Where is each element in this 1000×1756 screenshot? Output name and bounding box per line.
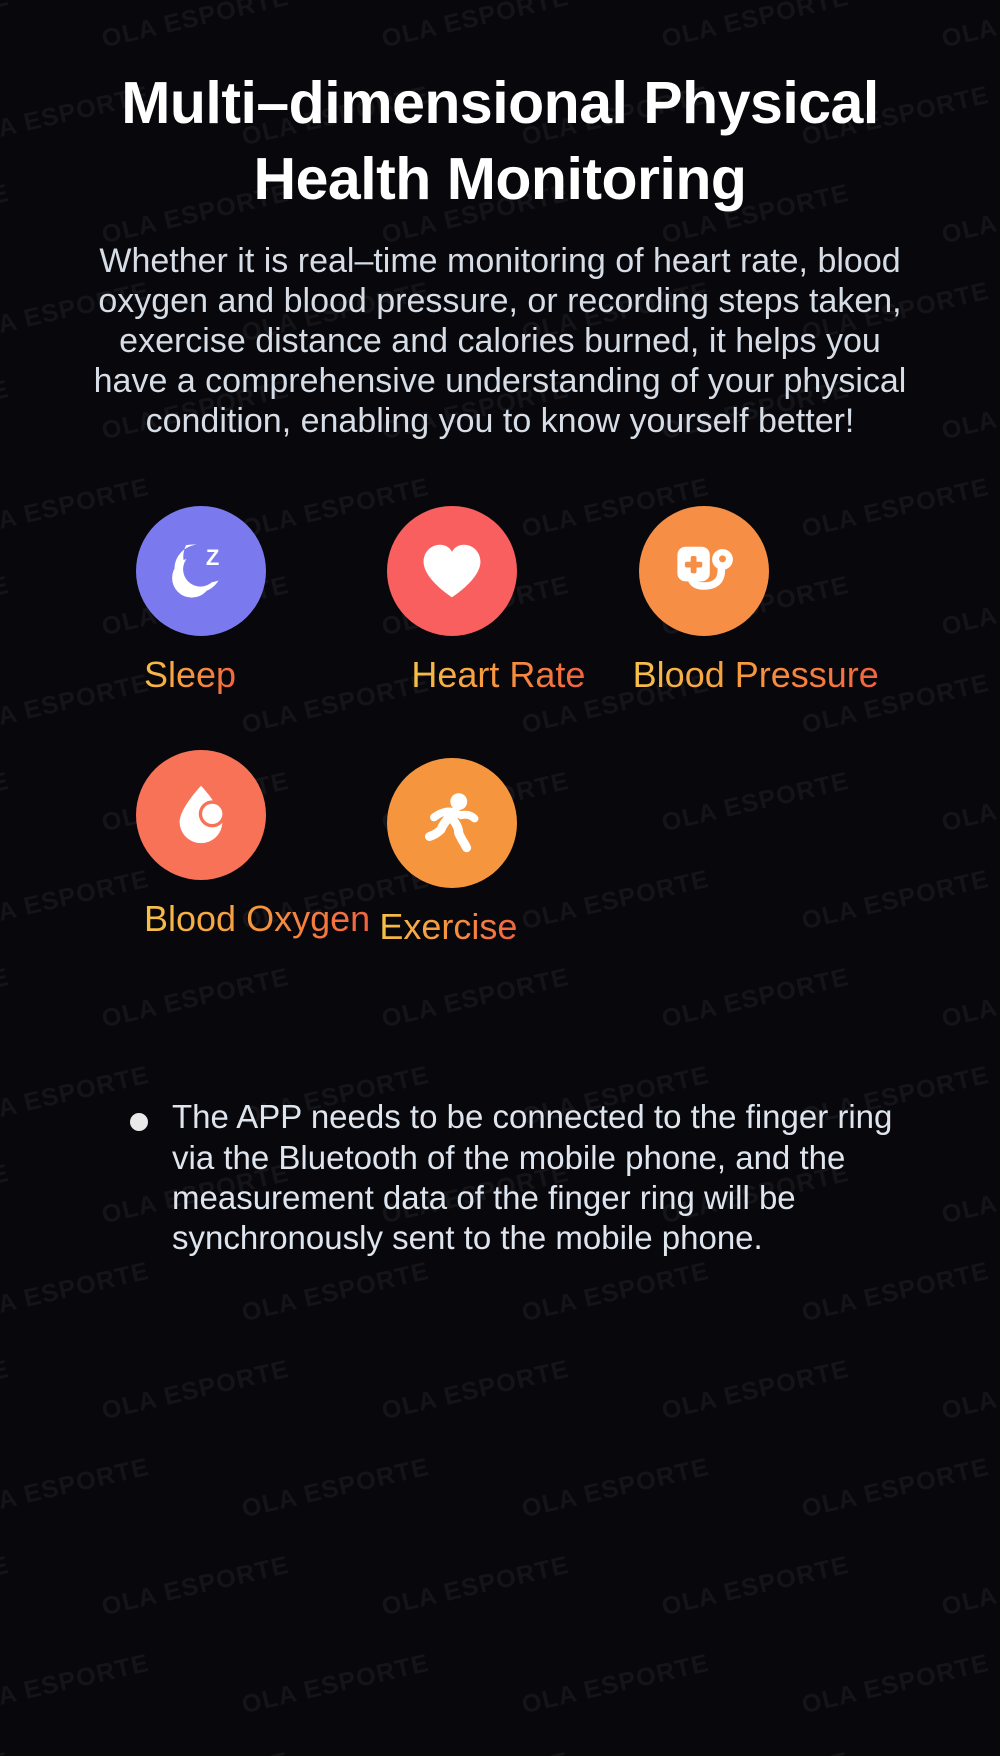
watermark-text: OLA ESPORTE xyxy=(379,0,572,54)
feature-item-blood-pressure[interactable]: Blood Pressure xyxy=(631,506,882,695)
watermark-text: OLA ESPORTE xyxy=(0,0,12,54)
feature-label-heart-rate: Heart Rate xyxy=(411,656,585,695)
exercise-icon-circle[interactable] xyxy=(387,758,517,888)
feature-label-blood-pressure: Blood Pressure xyxy=(633,656,879,695)
watermark-text: OLA ESPORTE xyxy=(659,0,852,54)
blood-oxygen-icon-circle[interactable] xyxy=(136,750,266,880)
feature-item-blood-oxygen[interactable]: Blood Oxygen xyxy=(128,750,379,947)
heart-icon xyxy=(417,536,487,606)
watermark-text: OLA ESPORTE xyxy=(939,1551,1000,1622)
watermark-text: OLA ESPORTE xyxy=(0,1551,12,1622)
feature-grid: Z Sleep Heart Rate xyxy=(0,506,1000,948)
feature-grid-spacer xyxy=(631,750,882,947)
blood-drop-icon xyxy=(165,779,237,851)
heart-rate-icon-circle[interactable] xyxy=(387,506,517,636)
note-text: The APP needs to be connected to the fin… xyxy=(172,1097,900,1258)
feature-label-blood-oxygen: Blood Oxygen xyxy=(144,900,370,939)
intro-paragraph: Whether it is real–time monitoring of he… xyxy=(0,241,1000,442)
page-content: Multi–dimensional Physical Health Monito… xyxy=(0,66,1000,1556)
watermark-text: OLA ESPORTE xyxy=(99,1551,292,1622)
watermark-text: OLA ESPORTE xyxy=(379,1551,572,1622)
watermark-text: OLA ESPORTE xyxy=(939,1747,1000,1756)
svg-text:Z: Z xyxy=(206,545,219,570)
note-bullet-icon xyxy=(130,1113,148,1131)
feature-label-exercise: Exercise xyxy=(379,908,517,947)
blood-pressure-monitor-icon xyxy=(667,534,741,608)
watermark-text: OLA ESPORTE xyxy=(99,1747,292,1756)
watermark-text: OLA ESPORTE xyxy=(659,1551,852,1622)
watermark-text: OLA ESPORTE xyxy=(379,1747,572,1756)
feature-item-heart-rate[interactable]: Heart Rate xyxy=(379,506,630,695)
blood-pressure-icon-circle[interactable] xyxy=(639,506,769,636)
watermark-text: OLA ESPORTE xyxy=(239,1649,432,1720)
sleep-icon-circle[interactable]: Z xyxy=(136,506,266,636)
running-person-icon xyxy=(416,787,488,859)
watermark-text: OLA ESPORTE xyxy=(99,0,292,54)
feature-item-sleep[interactable]: Z Sleep xyxy=(128,506,379,695)
note-block: The APP needs to be connected to the fin… xyxy=(0,1097,1000,1258)
watermark-text: OLA ESPORTE xyxy=(519,1649,712,1720)
watermark-text: OLA ESPORTE xyxy=(0,1747,12,1756)
moon-z-icon: Z xyxy=(164,534,238,608)
watermark-text: OLA ESPORTE xyxy=(0,1649,152,1720)
watermark-text: OLA ESPORTE xyxy=(939,0,1000,54)
watermark-text: OLA ESPORTE xyxy=(799,1649,992,1720)
feature-label-sleep: Sleep xyxy=(144,656,236,695)
feature-item-exercise[interactable]: Exercise xyxy=(379,750,630,947)
watermark-text: OLA ESPORTE xyxy=(659,1747,852,1756)
page-title: Multi–dimensional Physical Health Monito… xyxy=(0,66,1000,217)
